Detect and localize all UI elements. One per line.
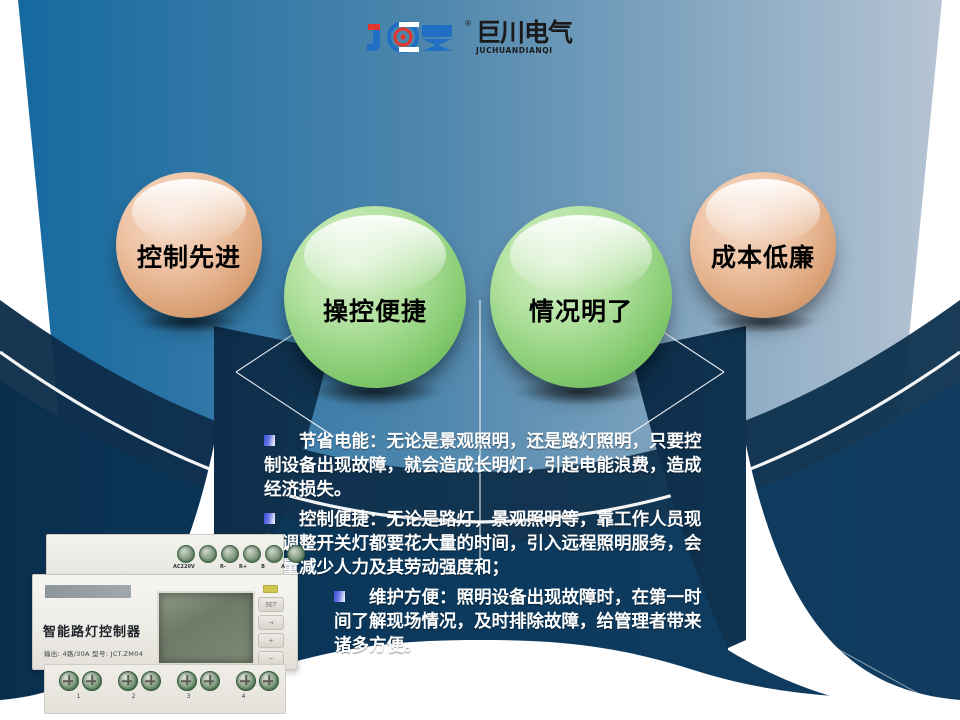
product-photo-street-light-controller: AC220V R- R+ B A 智能路灯控制器 输出: 4路/30A 型号: … [32,534,300,720]
channel-label: 4 [224,693,263,700]
top-terminal-labels: AC220V R- R+ B A [173,564,293,570]
benefits-list: 节省电能：无论是景观照明，还是路灯照明，只要控制设备出现故障，就会造成长明灯，引… [248,430,714,658]
device-button-label: − [268,655,273,662]
channel-label: 1 [59,693,98,700]
square-bullet-icon [264,435,275,446]
benefit-lead: 节省电能： [299,432,387,452]
sphere-gloss-highlight [510,215,652,295]
device-spec-line: 输出: 4路/30A 型号: JCT.ZM04 [44,648,143,658]
sphere-gloss-highlight [132,179,246,243]
output-terminal-pair [236,671,279,691]
brand-name-block: 巨川电气 JUCHUANDIANQI [476,20,572,55]
square-bullet-icon [264,513,275,524]
feature-sphere-easy-operation[interactable]: 操控便捷 [284,206,466,388]
device-button-label: → [268,619,273,626]
device-brand-logo-icon [45,585,131,598]
brand-name-pinyin: JUCHUANDIANQI [476,47,553,55]
slide-canvas: ® 巨川电气 JUCHUANDIANQI 控制先进 操控便捷 情况明了 成本低廉… [0,0,960,720]
terminal-label: B [253,564,273,570]
output-terminal-rows [59,671,279,691]
device-button-label: + [268,637,273,644]
terminal-screw [221,545,239,563]
jc-monogram-icon: ® [366,20,470,54]
registered-mark: ® [464,19,472,28]
brand-name-cn: 巨川电气 [476,20,572,45]
terminal-label [193,564,213,570]
sphere-label: 成本低廉 [711,238,815,274]
terminal-screw [236,671,256,691]
terminal-screw [141,671,161,691]
benefit-item-easy-maintenance: 维护方便：照明设备出现故障时，在第一时间了解现场情况，及时排除故障，给管理者带来… [334,586,714,658]
device-button-label: SET [265,601,276,608]
sphere-label: 操控便捷 [323,292,427,328]
benefit-lead: 维护方便： [369,588,457,608]
terminal-label: AC220V [173,564,193,570]
feature-sphere-control-advanced[interactable]: 控制先进 [116,172,262,318]
feature-sphere-clear-status[interactable]: 情况明了 [490,206,672,388]
top-terminal-row [177,545,305,563]
terminal-screw [265,545,283,563]
channel-label: 2 [114,693,153,700]
terminal-screw [59,671,79,691]
terminal-screw [82,671,102,691]
benefit-item-easy-control: 控制便捷：无论是路灯，景观照明等，靠工作人员现场调整开关灯都要花大量的时间，引入… [264,508,714,580]
device-lower-housing: 1 2 3 4 [44,664,286,714]
status-led-icon [263,585,278,593]
terminal-screw [259,671,279,691]
terminal-label: A [273,564,293,570]
terminal-screw [200,671,220,691]
sphere-label: 情况明了 [529,292,633,328]
output-channel-labels: 1 2 3 4 [59,693,263,700]
benefit-lead: 控制便捷： [299,510,387,530]
benefit-item-energy-saving: 节省电能：无论是景观照明，还是路灯照明，只要控制设备出现故障，就会造成长明灯，引… [264,430,714,502]
brand-logo: ® 巨川电气 JUCHUANDIANQI [366,14,594,60]
output-terminal-pair [59,671,102,691]
output-terminal-pair [177,671,220,691]
device-button-increase[interactable]: + [258,633,284,648]
device-button-next[interactable]: → [258,615,284,630]
terminal-screw [243,545,261,563]
terminal-screw [177,671,197,691]
feature-sphere-low-cost[interactable]: 成本低廉 [690,172,836,318]
device-button-set[interactable]: SET [258,597,284,612]
terminal-screw [287,545,305,563]
output-terminal-pair [118,671,161,691]
device-product-title: 智能路灯控制器 [43,621,141,640]
terminal-screw [118,671,138,691]
terminal-label: R- [213,564,233,570]
sphere-gloss-highlight [304,215,446,295]
sphere-label: 控制先进 [137,238,241,274]
terminal-screw [177,545,195,563]
lcd-display [157,591,255,665]
device-front-panel: 智能路灯控制器 输出: 4路/30A 型号: JCT.ZM04 SET → + … [32,574,298,670]
terminal-label: R+ [233,564,253,570]
terminal-screw [199,545,217,563]
sphere-gloss-highlight [706,179,820,243]
square-bullet-icon [334,591,345,602]
channel-label: 3 [169,693,208,700]
